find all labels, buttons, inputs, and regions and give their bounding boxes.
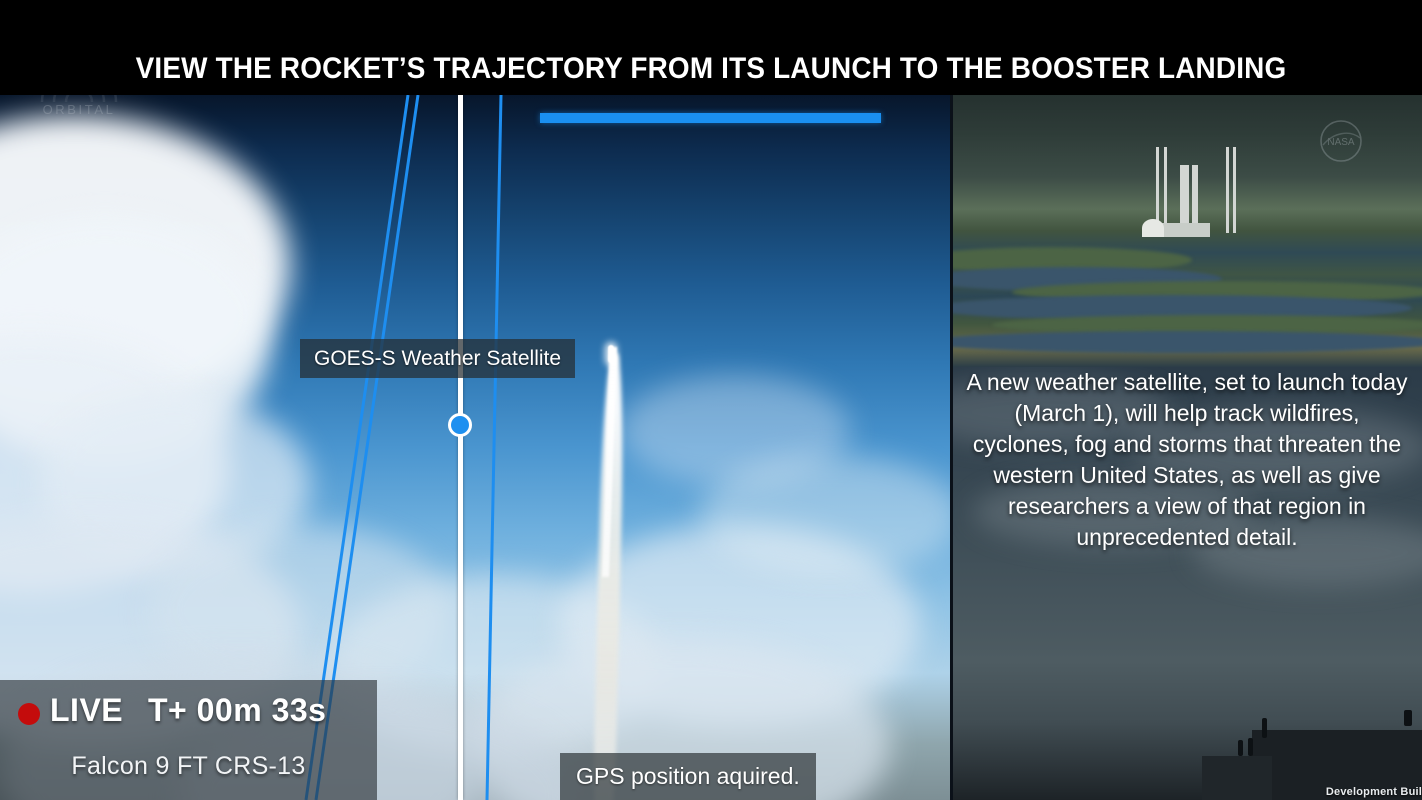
- rocket-icon: [608, 345, 614, 363]
- mission-description: A new weather satellite, set to launch t…: [952, 367, 1422, 553]
- mission-timer: T+ 00m 33s: [148, 692, 326, 729]
- svg-text:NASA: NASA: [1327, 137, 1355, 148]
- nasa-logo-icon: NASA: [1318, 118, 1364, 164]
- pad-dome: [1142, 219, 1164, 237]
- pad-tower-mast: [1164, 147, 1167, 233]
- info-side-panel: A new weather satellite, set to launch t…: [952, 95, 1422, 800]
- live-status-panel: LIVE T+ 00m 33s Falcon 9 FT CRS-13: [0, 680, 377, 800]
- development-build-label: Development Buil: [1326, 786, 1422, 798]
- satellite-marker-line: [458, 95, 463, 800]
- spectator-silhouette: [1238, 740, 1243, 756]
- title-bar: VIEW THE ROCKET’S TRAJECTORY FROM ITS LA…: [0, 0, 1422, 95]
- spectator-silhouette: [1262, 718, 1267, 738]
- live-status-row: LIVE T+ 00m 33s: [0, 680, 377, 742]
- vehicle-name: Falcon 9 FT CRS-13: [0, 752, 377, 781]
- water-strip: [952, 331, 1422, 353]
- pad-tower-mast: [1233, 147, 1236, 233]
- satellite-label[interactable]: GOES-S Weather Satellite: [300, 339, 575, 378]
- spectator-silhouette: [1404, 710, 1412, 726]
- broadcast-overlay-stage: GOES-S Weather Satellite GPS position aq…: [0, 0, 1422, 800]
- gps-status-toast: GPS position aquired.: [560, 753, 816, 800]
- orbital-logo-text: ORBITAL: [14, 102, 144, 117]
- spectator-silhouette: [1248, 738, 1253, 756]
- pad-tower-mast: [1226, 147, 1229, 233]
- pad-building: [1162, 223, 1210, 237]
- progress-bar[interactable]: [540, 113, 881, 123]
- live-indicator-icon: [18, 703, 40, 725]
- panel-divider: [950, 95, 953, 800]
- live-label: LIVE: [50, 692, 123, 729]
- page-title: VIEW THE ROCKET’S TRAJECTORY FROM ITS LA…: [50, 52, 1372, 86]
- rooftop-building-lower: [1202, 756, 1272, 800]
- cloud-shape: [700, 455, 952, 575]
- satellite-marker-dot[interactable]: [448, 413, 472, 437]
